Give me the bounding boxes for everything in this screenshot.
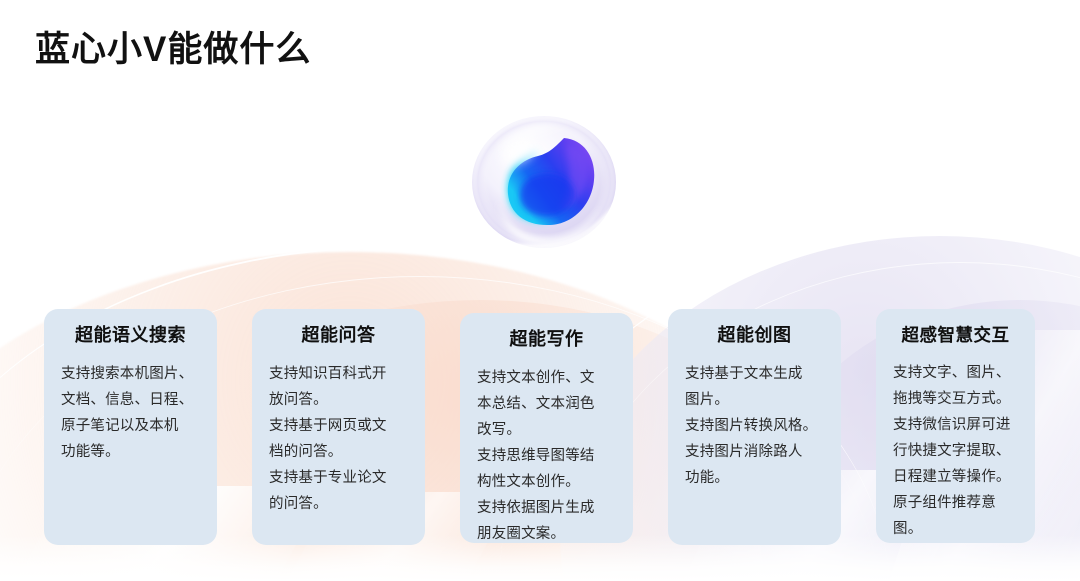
card-body-line: 支持图片转换风格。 bbox=[685, 413, 824, 439]
card-body-line: 放问答。 bbox=[269, 387, 408, 413]
card-title: 超能语义搜索 bbox=[61, 325, 200, 347]
card-body-line: 档的问答。 bbox=[269, 439, 408, 465]
card-body-line: 支持文本创作、文 bbox=[477, 365, 616, 391]
card-body-line: 支持知识百科式开 bbox=[269, 361, 408, 387]
feature-card-smart-interaction[interactable]: 超感智慧交互 支持文字、图片、 拖拽等交互方式。 支持微信识屏可进 行快捷文字提… bbox=[876, 309, 1035, 543]
card-body-line: 功能等。 bbox=[61, 439, 200, 465]
card-body-line: 支持思维导图等结 bbox=[477, 443, 616, 469]
card-title: 超能问答 bbox=[269, 325, 408, 347]
card-body-line: 的问答。 bbox=[269, 491, 408, 517]
card-body-line: 支持基于文本生成 bbox=[685, 361, 824, 387]
card-body: 支持搜索本机图片、 文档、信息、日程、 原子笔记以及本机 功能等。 bbox=[61, 361, 200, 465]
card-body-line: 本总结、文本润色 bbox=[477, 391, 616, 417]
card-body-line: 拖拽等交互方式。 bbox=[893, 386, 1018, 412]
feature-card-semantic-search[interactable]: 超能语义搜索 支持搜索本机图片、 文档、信息、日程、 原子笔记以及本机 功能等。 bbox=[44, 309, 217, 545]
card-body-line: 行快捷文字提取、 bbox=[893, 438, 1018, 464]
card-body-line: 支持依据图片生成 bbox=[477, 495, 616, 521]
card-body-line: 原子组件推荐意图。 bbox=[893, 490, 1018, 542]
card-body: 支持基于文本生成 图片。 支持图片转换风格。 支持图片消除路人 功能。 bbox=[685, 361, 824, 491]
card-body: 支持文字、图片、 拖拽等交互方式。 支持微信识屏可进 行快捷文字提取、 日程建立… bbox=[893, 360, 1018, 542]
card-title: 超感智慧交互 bbox=[893, 325, 1018, 346]
card-body: 支持知识百科式开 放问答。 支持基于网页或文 档的问答。 支持基于专业论文 的问… bbox=[269, 361, 408, 517]
feature-card-image-creation[interactable]: 超能创图 支持基于文本生成 图片。 支持图片转换风格。 支持图片消除路人 功能。 bbox=[668, 309, 841, 545]
card-body-line: 图片。 bbox=[685, 387, 824, 413]
card-body: 支持文本创作、文 本总结、文本润色 改写。 支持思维导图等结 构性文本创作。 支… bbox=[477, 365, 616, 547]
card-body-line: 日程建立等操作。 bbox=[893, 464, 1018, 490]
slide-root: 蓝心小V能做什么 bbox=[0, 0, 1080, 581]
card-body-line: 功能。 bbox=[685, 465, 824, 491]
card-body-line: 原子笔记以及本机 bbox=[61, 413, 200, 439]
feature-card-list: 超能语义搜索 支持搜索本机图片、 文档、信息、日程、 原子笔记以及本机 功能等。… bbox=[0, 0, 1080, 581]
feature-card-qa[interactable]: 超能问答 支持知识百科式开 放问答。 支持基于网页或文 档的问答。 支持基于专业… bbox=[252, 309, 425, 545]
card-body-line: 支持图片消除路人 bbox=[685, 439, 824, 465]
card-body-line: 朋友圈文案。 bbox=[477, 521, 616, 547]
card-body-line: 改写。 bbox=[477, 417, 616, 443]
card-body-line: 支持微信识屏可进 bbox=[893, 412, 1018, 438]
card-body-line: 支持搜索本机图片、 bbox=[61, 361, 200, 387]
card-body-line: 构性文本创作。 bbox=[477, 469, 616, 495]
card-title: 超能写作 bbox=[477, 329, 616, 351]
card-title: 超能创图 bbox=[685, 325, 824, 347]
card-body-line: 文档、信息、日程、 bbox=[61, 387, 200, 413]
card-body-line: 支持文字、图片、 bbox=[893, 360, 1018, 386]
feature-card-writing[interactable]: 超能写作 支持文本创作、文 本总结、文本润色 改写。 支持思维导图等结 构性文本… bbox=[460, 313, 633, 543]
card-body-line: 支持基于专业论文 bbox=[269, 465, 408, 491]
card-body-line: 支持基于网页或文 bbox=[269, 413, 408, 439]
